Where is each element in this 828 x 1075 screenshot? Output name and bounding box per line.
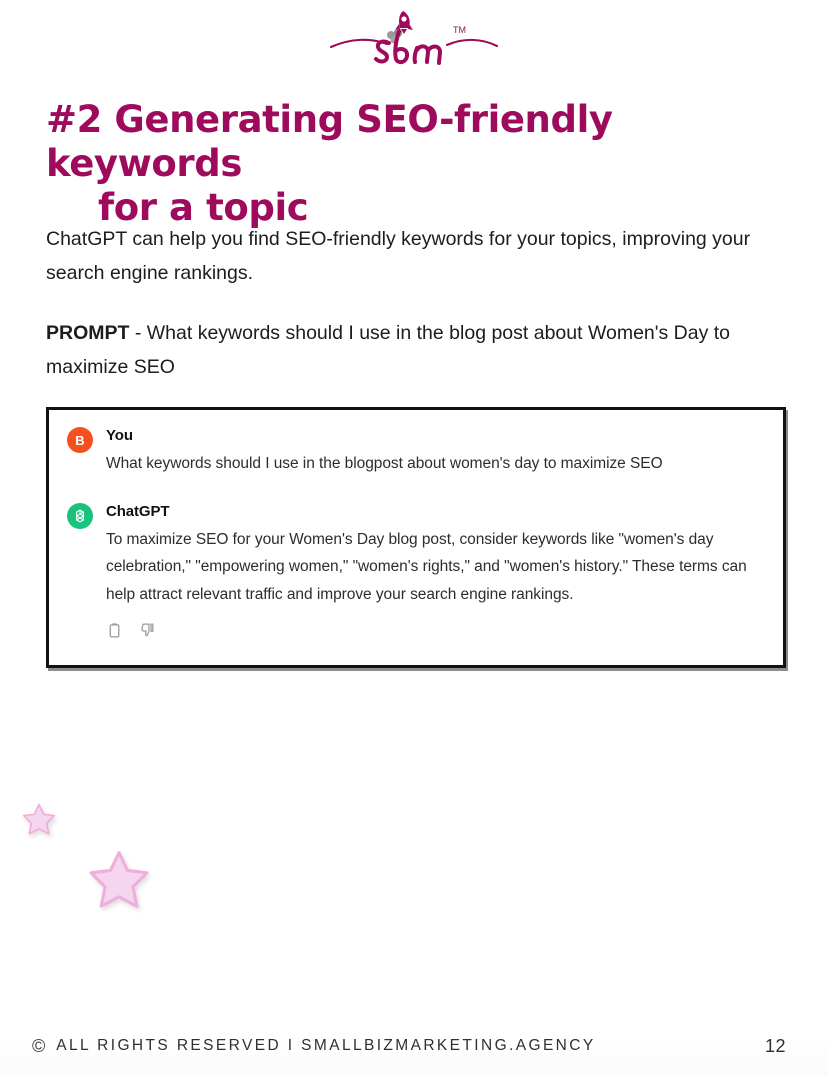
sbm-script-logo-icon: TM [329, 7, 499, 69]
openai-logo-icon [71, 507, 89, 525]
copyright-icon: © [32, 1037, 45, 1055]
thumbs-down-icon[interactable] [139, 622, 156, 639]
trademark-label: TM [453, 25, 466, 35]
footer-text: ALL RIGHTS RESERVED I SMALLBIZMARKETING.… [56, 1037, 595, 1055]
chatgpt-avatar [67, 503, 93, 529]
page-number: 12 [765, 1036, 786, 1057]
page-title: #2 Generating SEO-friendly keywords for … [46, 98, 786, 230]
brand-logo: TM [0, 6, 828, 70]
chat-message-assistant-body: ChatGPT To maximize SEO for your Women's… [106, 502, 765, 609]
chat-message-user-text: What keywords should I use in the blogpo… [106, 450, 765, 478]
prompt-paragraph: PROMPT - What keywords should I use in t… [46, 316, 791, 384]
user-avatar: B [67, 427, 93, 453]
footer-copyright: © ALL RIGHTS RESERVED I SMALLBIZMARKETIN… [32, 1037, 596, 1055]
prompt-separator: - [129, 322, 146, 344]
user-avatar-letter: B [75, 433, 84, 448]
page-footer: © ALL RIGHTS RESERVED I SMALLBIZMARKETIN… [0, 1017, 828, 1075]
chat-message-assistant-name: ChatGPT [106, 502, 765, 521]
page-title-line1: #2 Generating SEO-friendly keywords [46, 98, 613, 185]
chat-message-assistant-text: To maximize SEO for your Women's Day blo… [106, 526, 765, 609]
decorative-star-small [22, 802, 56, 841]
prompt-label: PROMPT [46, 322, 129, 344]
chat-message-user: B You What keywords should I use in the … [49, 426, 783, 478]
chat-message-assistant: ChatGPT To maximize SEO for your Women's… [49, 502, 783, 609]
slide-page: TM #2 Generating SEO-friendly keywords f… [0, 0, 828, 1075]
chat-message-user-name: You [106, 426, 765, 445]
chatgpt-screenshot: B You What keywords should I use in the … [46, 407, 786, 668]
chat-message-user-body: You What keywords should I use in the bl… [106, 426, 765, 478]
decorative-star-big [88, 848, 150, 915]
intro-paragraph: ChatGPT can help you find SEO-friendly k… [46, 222, 788, 290]
prompt-text: What keywords should I use in the blog p… [46, 322, 730, 378]
copy-icon[interactable] [106, 622, 123, 639]
message-actions [49, 608, 783, 639]
